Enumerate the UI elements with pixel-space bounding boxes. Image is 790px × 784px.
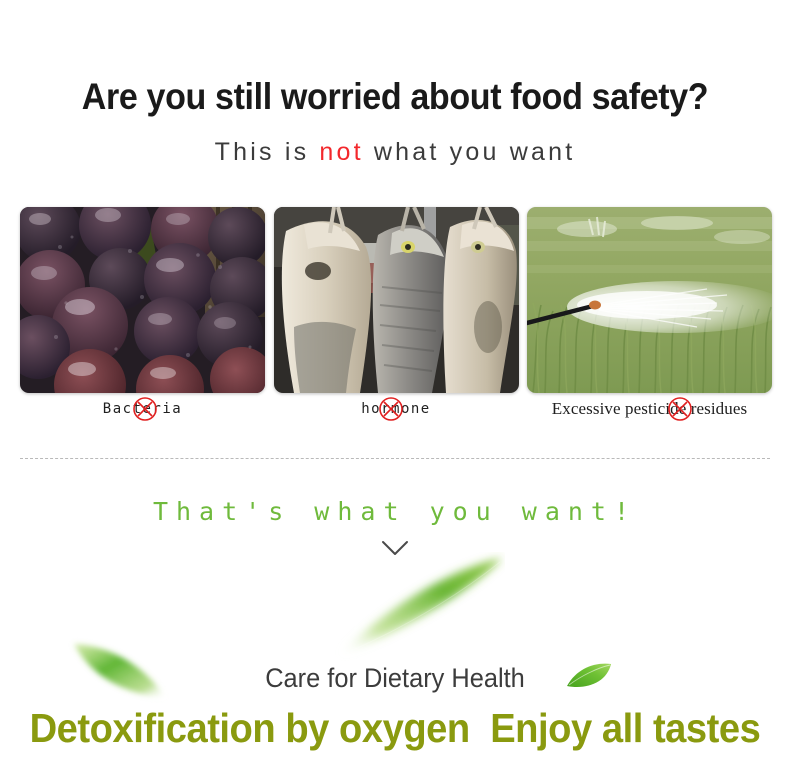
subtitle-part-after: what you want [364, 138, 576, 166]
caption-bacteria-label: Bacteria [103, 401, 182, 417]
chevron-down-icon [380, 538, 410, 558]
subtitle-highlight-not: not [319, 138, 363, 166]
care-tagline: Care for Dietary Health [24, 663, 767, 694]
caption-hormone: hormone [274, 396, 519, 422]
photo-captions: Bacteria hormone Excessive pesticide res… [20, 396, 772, 422]
leaf-icon [330, 552, 505, 662]
page-subtitle: This is not what you want [0, 138, 790, 167]
promo-page: Are you still worried about food safety?… [0, 0, 790, 784]
grapes-photo [20, 207, 265, 393]
main-slogan: Detoxification by oxygenEnjoy all tastes [28, 705, 763, 752]
pesticide-spray-image [527, 207, 772, 393]
callout-text: That's what you want! [0, 497, 790, 526]
photo-gallery [20, 207, 772, 393]
grapes-image [20, 207, 265, 393]
caption-hormone-label: hormone [361, 401, 431, 417]
slogan-part-1: Detoxification by oxygen [30, 705, 470, 751]
page-title: Are you still worried about food safety? [32, 76, 759, 118]
dried-fish-image [274, 207, 519, 393]
dried-fish-photo [274, 207, 519, 393]
caption-bacteria: Bacteria [20, 396, 265, 422]
caption-pesticide-label: Excessive pesticide residues [552, 399, 747, 419]
section-divider [20, 458, 770, 459]
pesticide-spray-photo [527, 207, 772, 393]
slogan-part-2: Enjoy all tastes [490, 705, 760, 751]
subtitle-part-before: This is [215, 138, 320, 166]
caption-pesticide: Excessive pesticide residues [527, 396, 772, 422]
